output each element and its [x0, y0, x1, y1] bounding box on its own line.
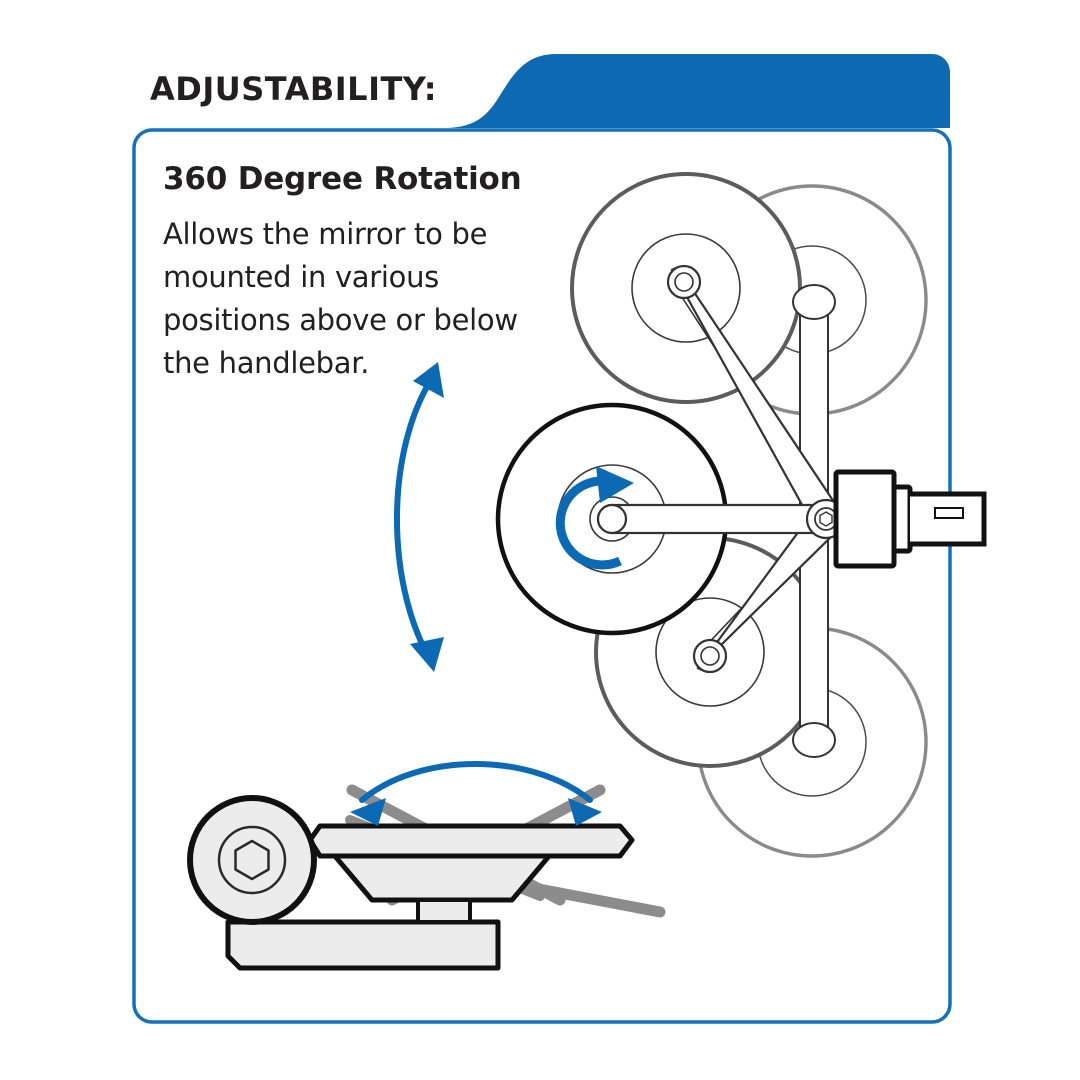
technical-illustration: [0, 0, 1080, 1080]
swing-plate: [310, 826, 632, 856]
mirror-arm-main: [598, 505, 824, 533]
header-banner: [443, 54, 950, 128]
hex-socket-bolt: [190, 798, 314, 922]
infographic-canvas: ADJUSTABILITY: 360 Degree Rotation Allow…: [0, 0, 1080, 1080]
handlebar-clamp-block: [836, 472, 984, 566]
base-clamp-bar: [228, 922, 498, 968]
